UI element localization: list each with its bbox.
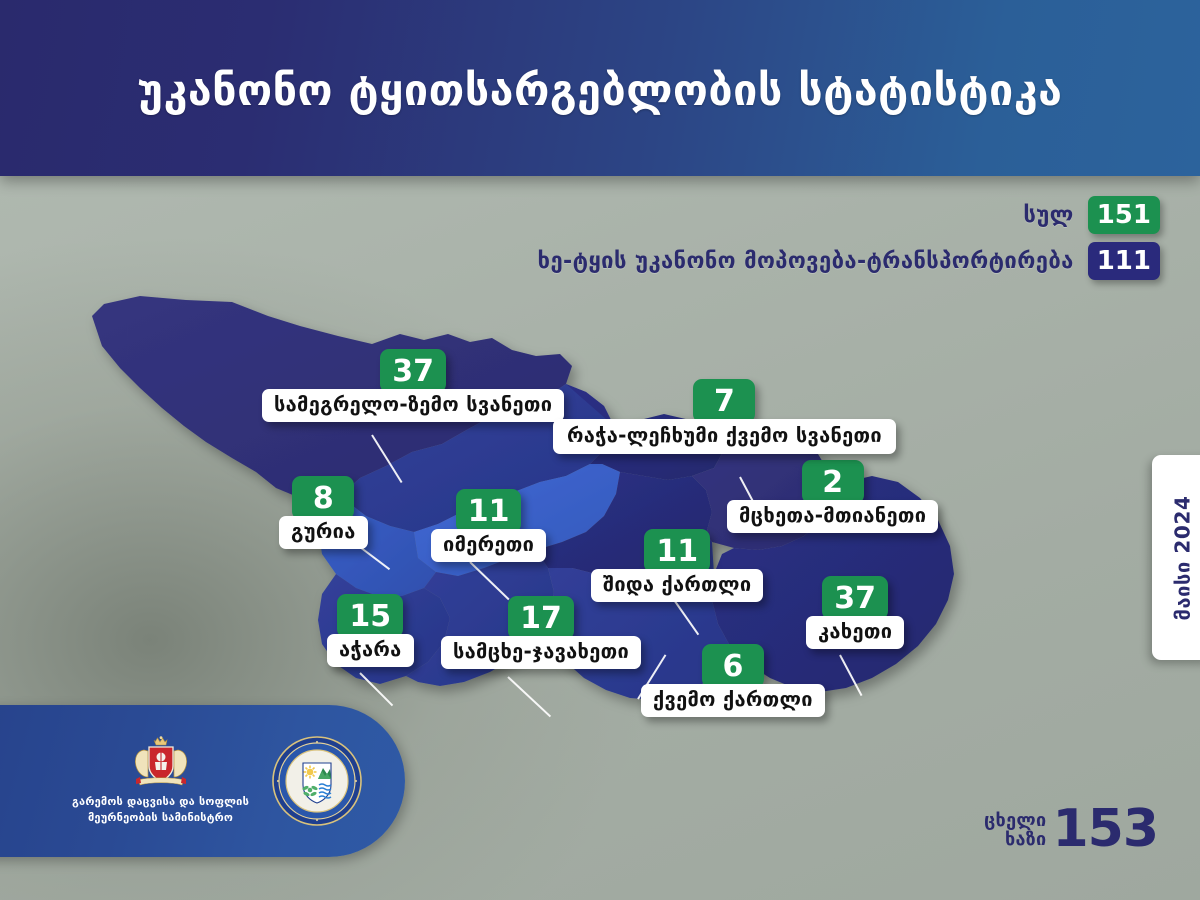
callout-value-mtskheta: 2 xyxy=(802,460,864,504)
callout-kakheti[interactable]: 37 კახეთი xyxy=(806,576,904,649)
callout-value-kakheti: 37 xyxy=(822,576,888,620)
callout-value-racha: 7 xyxy=(693,379,755,423)
georgia-coat-of-arms-icon xyxy=(122,736,200,790)
header-banner: უკანონო ტყითსარგებლობის სტატისტიკა xyxy=(0,0,1200,176)
callout-guria[interactable]: 8 გურია xyxy=(279,476,368,549)
callout-samegrelo-zemo-svaneti[interactable]: 37 სამეგრელო-ზემო სვანეთი xyxy=(262,349,564,422)
callout-racha-lechkhumi[interactable]: 7 რაჭა-ლეჩხუმი ქვემო სვანეთი xyxy=(553,379,896,454)
page-title: უკანონო ტყითსარგებლობის სტატისტიკა xyxy=(0,0,1200,176)
callout-label-racha: რაჭა-ლეჩხუმი ქვემო სვანეთი xyxy=(553,419,896,454)
hotline-label: ცხელი ხაზი xyxy=(984,811,1046,849)
callout-adjara[interactable]: 15 აჭარა xyxy=(327,594,414,667)
callout-label-shida-kartli: შიდა ქართლი xyxy=(591,569,763,602)
callout-label-samegrelo: სამეგრელო-ზემო სვანეთი xyxy=(262,389,564,422)
callout-value-shida-kartli: 11 xyxy=(644,529,710,573)
callout-label-guria: გურია xyxy=(279,516,368,549)
environmental-supervision-seal-icon xyxy=(271,735,363,827)
callout-imereti[interactable]: 11 იმერეთი xyxy=(431,489,546,562)
hotline-block: ცხელი ხაზი 153 xyxy=(984,806,1158,854)
callout-label-adjara: აჭარა xyxy=(327,634,414,667)
infographic-canvas: უკანონო ტყითსარგებლობის სტატისტიკა სულ 1… xyxy=(0,0,1200,900)
callout-kvemo-kartli[interactable]: 6 ქვემო ქართლი xyxy=(641,644,825,717)
ministry-identity: გარემოს დაცვისა და სოფლის მეურნეობის სამ… xyxy=(72,736,249,826)
callout-value-samegrelo: 37 xyxy=(380,349,446,393)
callout-value-samtskhe: 17 xyxy=(508,596,574,640)
ministry-banner: გარემოს დაცვისა და სოფლის მეურნეობის სამ… xyxy=(0,705,405,857)
callout-label-samtskhe: სამცხე-ჯავახეთი xyxy=(441,636,641,669)
callout-label-imereti: იმერეთი xyxy=(431,529,546,562)
callout-value-adjara: 15 xyxy=(337,594,403,638)
callout-value-kvemo-kartli: 6 xyxy=(702,644,764,688)
date-tab: მაისი 2024 xyxy=(1152,455,1200,660)
date-tab-label: მაისი 2024 xyxy=(1170,495,1194,620)
hotline-number: 153 xyxy=(1052,806,1158,854)
callout-label-kakheti: კახეთი xyxy=(806,616,904,649)
callout-label-kvemo-kartli: ქვემო ქართლი xyxy=(641,684,825,717)
ministry-name: გარემოს დაცვისა და სოფლის მეურნეობის სამ… xyxy=(72,794,249,826)
callout-value-imereti: 11 xyxy=(456,489,522,533)
callout-mtskheta-mtianeti[interactable]: 2 მცხეთა-მთიანეთი xyxy=(727,460,938,533)
callout-value-guria: 8 xyxy=(292,476,354,520)
callout-samtskhe-javakheti[interactable]: 17 სამცხე-ჯავახეთი xyxy=(441,596,641,669)
callout-shida-kartli[interactable]: 11 შიდა ქართლი xyxy=(591,529,763,602)
callout-label-mtskheta: მცხეთა-მთიანეთი xyxy=(727,500,938,533)
